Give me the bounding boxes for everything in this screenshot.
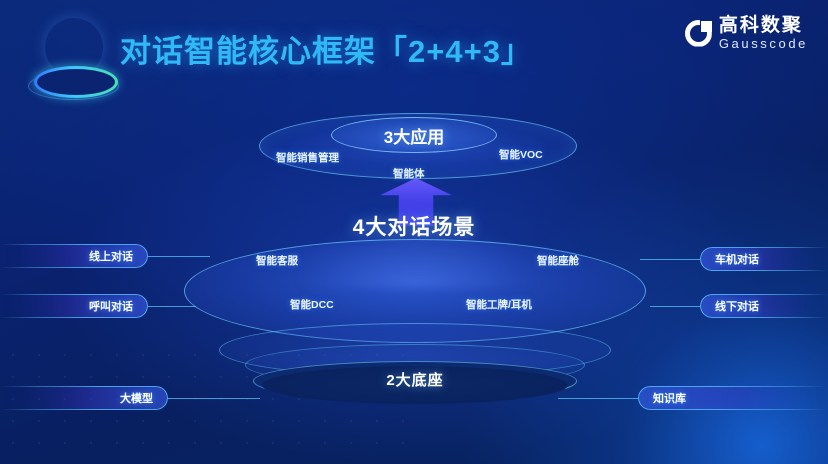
brand-logo: 高科数聚 Gausscode — [685, 16, 808, 50]
tag-call-dialogue[interactable]: 呼叫对话 — [0, 294, 148, 318]
scenario-label-dcc: 智能DCC — [290, 297, 334, 312]
connector-online-dialogue — [148, 256, 210, 257]
slide-canvas: 对话智能核心框架「2+4+3」 高科数聚 Gausscode 3大应用 智能销售… — [0, 0, 828, 464]
foundation-cylinder: 2大底座 — [253, 361, 577, 423]
scenario-label-service: 智能客服 — [256, 253, 298, 268]
page-title: 对话智能核心框架「2+4+3」 — [120, 26, 533, 71]
gausscode-mark-icon — [685, 20, 712, 47]
connector-large-model — [168, 398, 260, 399]
foundation-title: 2大底座 — [253, 369, 577, 390]
brand-text: 高科数聚 Gausscode — [719, 16, 808, 50]
scenario-label-badge: 智能工牌/耳机 — [466, 297, 532, 312]
connector-car-dialogue — [640, 259, 700, 260]
connector-offline-dialogue — [650, 306, 700, 307]
tag-offline-dialogue[interactable]: 线下对话 — [700, 294, 828, 318]
brand-name-en: Gausscode — [719, 37, 808, 50]
applications-title: 3大应用 — [331, 120, 497, 150]
tag-car-dialogue[interactable]: 车机对话 — [700, 247, 828, 271]
brand-name-cn: 高科数聚 — [719, 16, 808, 35]
mark-square — [701, 21, 712, 32]
sphere-logo-icon — [28, 16, 116, 100]
tag-large-model[interactable]: 大模型 — [0, 386, 168, 410]
connector-knowledge-base — [558, 398, 638, 399]
scenarios-title: 4大对话场景 — [0, 211, 828, 241]
tag-knowledge-base[interactable]: 知识库 — [638, 386, 828, 410]
application-label-sales: 智能销售管理 — [276, 150, 339, 165]
tag-online-dialogue[interactable]: 线上对话 — [0, 244, 148, 268]
application-label-agent: 智能体 — [393, 166, 425, 181]
application-label-voc: 智能VOC — [499, 147, 543, 162]
sphere-glow-ring — [34, 66, 118, 98]
slide-header: 对话智能核心框架「2+4+3」 高科数聚 Gausscode — [0, 0, 828, 100]
connector-call-dialogue — [148, 306, 196, 307]
scenario-label-cockpit: 智能座舱 — [537, 253, 579, 268]
